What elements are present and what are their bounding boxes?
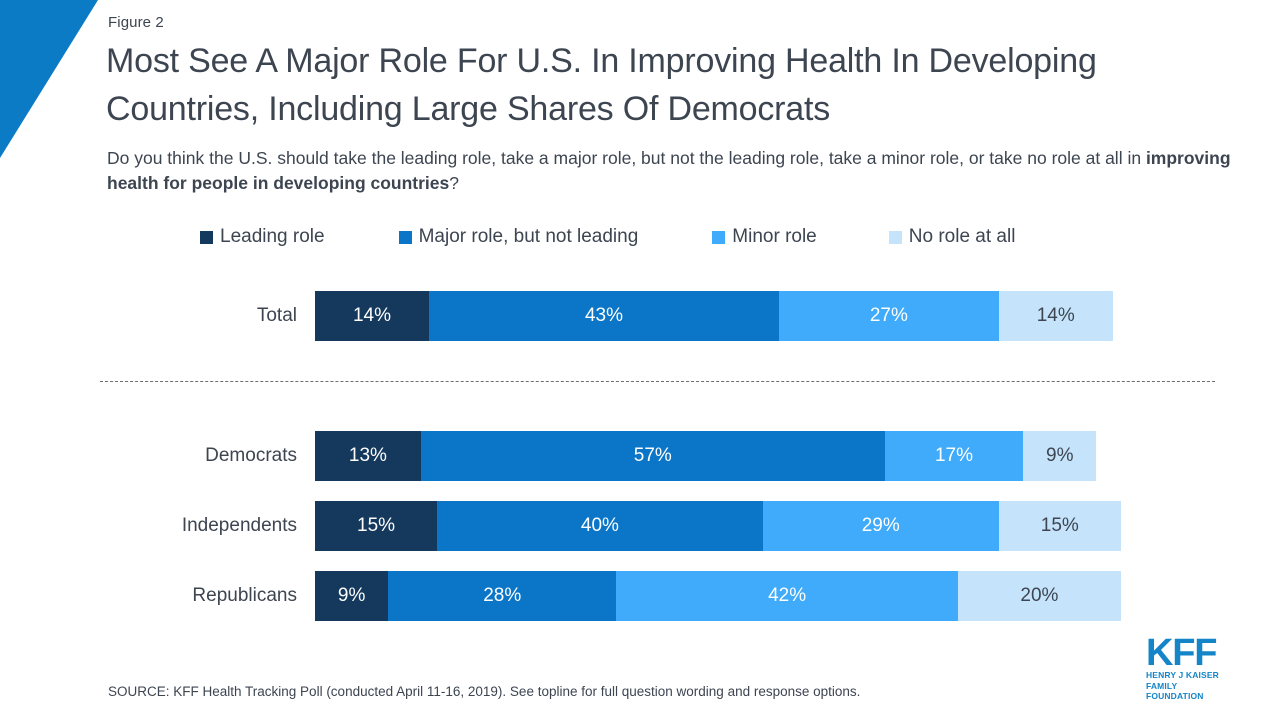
bar-row-label: Republicans	[192, 585, 297, 607]
bar-segment[interactable]: 9%	[315, 571, 388, 621]
bar-segment[interactable]: 43%	[429, 291, 779, 341]
bar-row: Independents15%40%29%15%	[315, 501, 1121, 551]
bar-segment[interactable]: 57%	[421, 431, 885, 481]
section-divider	[100, 381, 1215, 382]
bar-row: Total14%43%27%14%	[315, 291, 1113, 341]
bar-segment[interactable]: 40%	[437, 501, 763, 551]
bar-segment[interactable]: 29%	[763, 501, 999, 551]
bar-segment[interactable]: 14%	[315, 291, 429, 341]
bar-segment[interactable]: 9%	[1023, 431, 1096, 481]
bar-row-label: Independents	[182, 515, 297, 537]
bar-row: Democrats13%57%17%9%	[315, 431, 1096, 481]
bar-segment[interactable]: 15%	[999, 501, 1121, 551]
chart-plot-area: Total14%43%27%14%Democrats13%57%17%9%Ind…	[0, 0, 1280, 720]
bar-track: 13%57%17%9%	[315, 431, 1096, 481]
bar-segment[interactable]: 15%	[315, 501, 437, 551]
bar-segment[interactable]: 27%	[779, 291, 999, 341]
bar-segment[interactable]: 42%	[616, 571, 958, 621]
kff-logo-line-1: HENRY J KAISER	[1146, 670, 1236, 681]
bar-track: 15%40%29%15%	[315, 501, 1121, 551]
bar-track: 14%43%27%14%	[315, 291, 1113, 341]
kff-wordmark: KFF	[1146, 636, 1236, 670]
bar-segment[interactable]: 13%	[315, 431, 421, 481]
bar-segment[interactable]: 14%	[999, 291, 1113, 341]
bar-segment[interactable]: 28%	[388, 571, 616, 621]
bar-row-label: Total	[257, 305, 297, 327]
bar-track: 9%28%42%20%	[315, 571, 1121, 621]
bar-row: Republicans9%28%42%20%	[315, 571, 1121, 621]
kff-logo-line-2: FAMILY FOUNDATION	[1146, 681, 1236, 702]
source-note: SOURCE: KFF Health Tracking Poll (conduc…	[108, 684, 860, 699]
bar-row-label: Democrats	[205, 445, 297, 467]
kff-logo: KFF HENRY J KAISER FAMILY FOUNDATION	[1146, 636, 1236, 702]
bar-segment[interactable]: 20%	[958, 571, 1121, 621]
bar-segment[interactable]: 17%	[885, 431, 1023, 481]
